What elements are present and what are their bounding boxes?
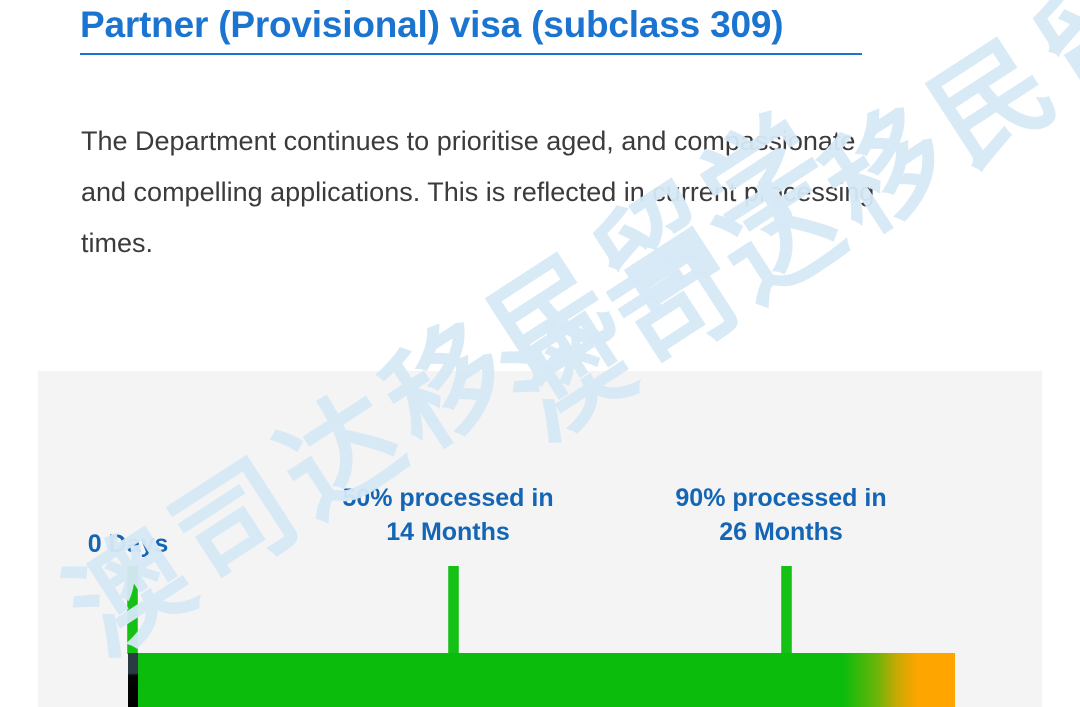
chart-inner: 0 Days 50% processed in 14 Months 90% pr… <box>38 371 1042 707</box>
marker-caption-p50: 50% processed in <box>342 481 553 515</box>
chart-tick-start <box>127 566 138 654</box>
processing-time-bar-start-cap <box>128 653 138 707</box>
chart-marker-label-p90: 90% processed in 26 Months <box>675 481 886 549</box>
chart-tick-p90 <box>781 566 792 654</box>
chart-tick-p50 <box>448 566 459 654</box>
processing-times-chart: 0 Days 50% processed in 14 Months 90% pr… <box>38 371 1042 707</box>
page-title: Partner (Provisional) visa (subclass 309… <box>80 2 910 48</box>
title-underline <box>80 53 862 55</box>
marker-value-p50: 14 Months <box>342 515 553 549</box>
chart-marker-label-p50: 50% processed in 14 Months <box>342 481 553 549</box>
page-title-block: Partner (Provisional) visa (subclass 309… <box>80 2 910 55</box>
marker-value-start: 0 Days <box>88 527 169 561</box>
description-paragraph: The Department continues to prioritise a… <box>81 116 901 269</box>
marker-caption-p90: 90% processed in <box>675 481 886 515</box>
processing-time-bar <box>128 653 955 707</box>
chart-marker-label-start: 0 Days <box>88 527 169 561</box>
marker-value-p90: 26 Months <box>675 515 886 549</box>
visa-processing-times-page: Partner (Provisional) visa (subclass 309… <box>0 0 1080 707</box>
